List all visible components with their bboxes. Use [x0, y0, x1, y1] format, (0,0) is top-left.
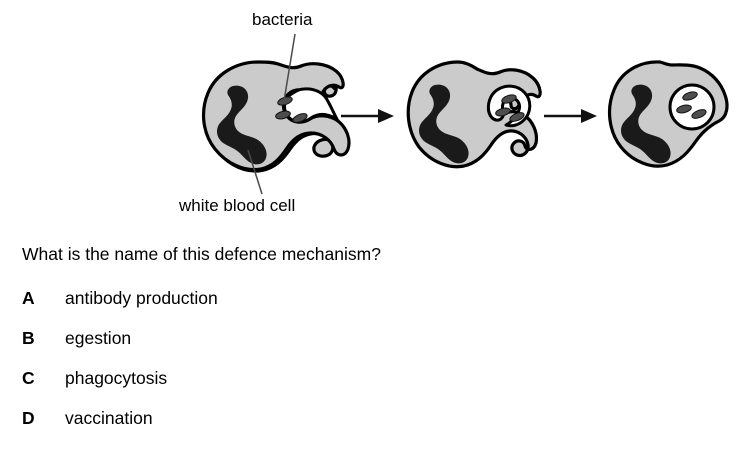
option-letter-d: D: [22, 407, 65, 429]
question-stem: What is the name of this defence mechani…: [22, 243, 722, 265]
question-block: What is the name of this defence mechani…: [22, 243, 722, 447]
option-label-d: vaccination: [65, 407, 153, 429]
arrow-stage-2-to-3: [544, 109, 597, 123]
option-row-d[interactable]: D vaccination: [22, 407, 722, 447]
stage-3-cell: [610, 62, 727, 166]
white-blood-cell-label: white blood cell: [179, 196, 295, 216]
option-row-c[interactable]: C phagocytosis: [22, 367, 722, 407]
stage-2-cell: [408, 62, 540, 167]
phagocytosis-diagram: bacteria white blood cell: [0, 0, 746, 232]
option-label-c: phagocytosis: [65, 367, 167, 389]
stage-1-cell: [204, 62, 349, 171]
option-letter-a: A: [22, 287, 65, 309]
option-label-b: egestion: [65, 327, 131, 349]
option-letter-b: B: [22, 327, 65, 349]
option-row-b[interactable]: B egestion: [22, 327, 722, 367]
arrow-stage-1-to-2: [341, 109, 394, 123]
option-label-a: antibody production: [65, 287, 218, 309]
phagocytosis-svg: [0, 0, 746, 232]
option-row-a[interactable]: A antibody production: [22, 287, 722, 327]
bacteria-label: bacteria: [252, 10, 312, 30]
option-letter-c: C: [22, 367, 65, 389]
